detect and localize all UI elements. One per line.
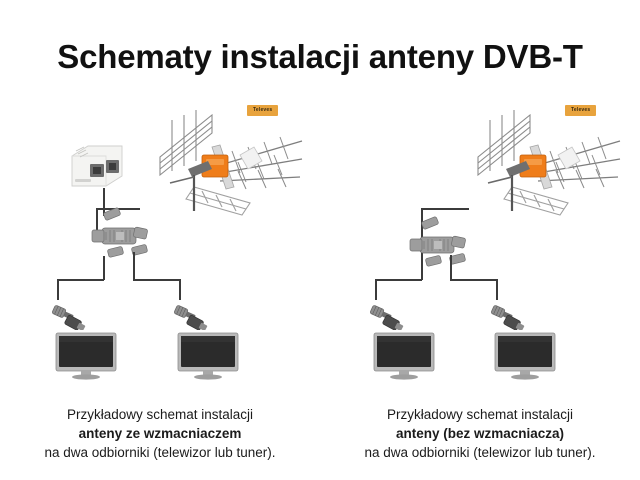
- wire-splitter-trunk-left: [421, 260, 423, 280]
- f-connector: [170, 302, 210, 330]
- wire-branch-left-horizontal: [375, 279, 422, 281]
- television: [177, 332, 239, 380]
- television: [494, 332, 556, 380]
- page-title: Schematy instalacji anteny DVB-T: [0, 38, 640, 76]
- diagram-canvas: Schematy instalacji anteny DVB-T: [0, 0, 640, 480]
- caption-with-amplifier: Przykładowy schemat instalacji anteny ze…: [0, 405, 320, 462]
- caption-line-3: na dwa odbiorniki (telewizor lub tuner).: [0, 443, 320, 462]
- wire-branch-left-horizontal: [57, 279, 104, 281]
- splitter: [406, 215, 480, 271]
- antenna: Televes: [468, 103, 628, 218]
- wire-branch-right-horizontal: [450, 279, 497, 281]
- caption-line-1: Przykładowy schemat instalacji: [0, 405, 320, 424]
- diagram-without-amplifier: Televes: [320, 80, 640, 400]
- television: [55, 332, 117, 380]
- caption-without-amplifier: Przykładowy schemat instalacji anteny (b…: [320, 405, 640, 462]
- wire-branch-right-horizontal: [133, 279, 180, 281]
- wire-splitter-trunk-right: [450, 255, 452, 280]
- wire-branch-right-drop: [179, 279, 181, 300]
- caption-line-3: na dwa odbiorniki (telewizor lub tuner).: [320, 443, 640, 462]
- wire-antenna-to-splitter-horizontal: [421, 208, 469, 210]
- brand-badge: Televes: [247, 105, 278, 116]
- wire-splitter-trunk-right: [133, 252, 135, 280]
- wire-branch-right-drop: [496, 279, 498, 300]
- wire-branch-left-drop: [375, 279, 377, 300]
- diagram-with-amplifier: Televes: [0, 80, 320, 400]
- f-connector: [366, 302, 406, 330]
- antenna: Televes: [150, 103, 310, 218]
- f-connector: [487, 302, 527, 330]
- brand-badge: Televes: [565, 105, 596, 116]
- wire-branch-left-drop: [57, 279, 59, 300]
- wire-splitter-trunk-left: [103, 256, 105, 280]
- amplifier: [68, 142, 124, 188]
- television: [373, 332, 435, 380]
- splitter: [88, 206, 162, 262]
- f-connector: [48, 302, 88, 330]
- caption-line-1: Przykładowy schemat instalacji: [320, 405, 640, 424]
- caption-line-2: anteny ze wzmacniaczem: [0, 424, 320, 443]
- caption-line-2: anteny (bez wzmacniacza): [320, 424, 640, 443]
